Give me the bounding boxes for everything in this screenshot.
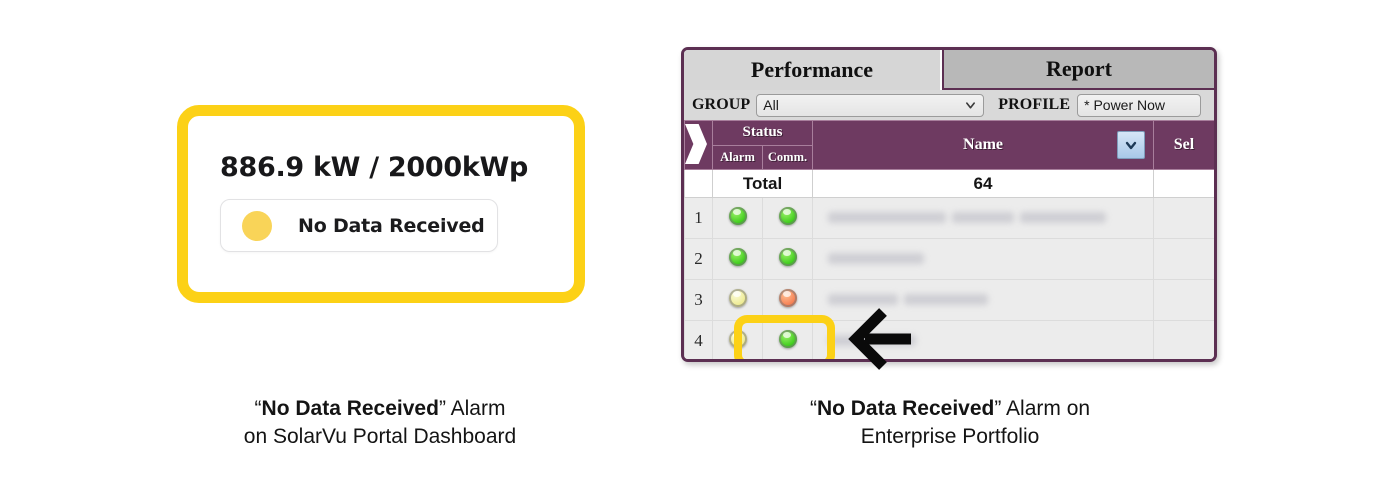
- status-group-header: Status: [713, 121, 813, 146]
- flag-icon: [685, 124, 707, 164]
- group-select[interactable]: All: [756, 94, 984, 117]
- alarm-status-dot-icon: [242, 211, 272, 241]
- total-row-select-cell: [1154, 170, 1215, 198]
- comm-column-header: Comm.: [763, 145, 813, 170]
- caption-right: “No Data Received” Alarm on Enterprise P…: [740, 395, 1160, 452]
- row-index: 3: [685, 280, 713, 321]
- group-select-value: All: [763, 97, 779, 113]
- alarm-column-header: Alarm: [713, 145, 763, 170]
- total-row: Total 64: [685, 170, 1215, 198]
- profile-select[interactable]: * Power Now: [1077, 94, 1201, 117]
- select-column-header: Sel: [1154, 121, 1215, 170]
- table-header: Status Name Sel Alarm Comm.: [685, 121, 1215, 170]
- group-filter-label: GROUP: [692, 96, 750, 114]
- comm-status-cell[interactable]: [763, 321, 813, 362]
- tab-bar: Performance Report: [684, 50, 1214, 90]
- tab-performance[interactable]: Performance: [684, 50, 942, 90]
- pointer-arrow-icon: [843, 306, 915, 372]
- row-index: 2: [685, 239, 713, 280]
- caption-right-line2: Enterprise Portfolio: [740, 423, 1160, 451]
- caption-right-quoted: No Data Received: [817, 397, 994, 420]
- alarm-led-icon: [729, 248, 747, 266]
- caption-right-suffix: Alarm on: [1001, 397, 1090, 420]
- table-row[interactable]: 3: [685, 280, 1215, 321]
- caption-left-line1: “No Data Received” Alarm: [180, 395, 580, 423]
- alarm-status-cell[interactable]: [713, 198, 763, 239]
- comm-status-cell[interactable]: [763, 198, 813, 239]
- chevron-down-icon: [1124, 138, 1138, 152]
- redacted-site-name: [828, 294, 898, 305]
- alarm-status-cell[interactable]: [713, 239, 763, 280]
- caption-right-line1: “No Data Received” Alarm on: [740, 395, 1160, 423]
- alarm-status-cell[interactable]: [713, 321, 763, 362]
- redacted-site-name: [828, 253, 924, 264]
- caption-left-suffix: Alarm: [446, 397, 506, 420]
- flag-column-header: [685, 121, 713, 170]
- select-cell[interactable]: [1154, 280, 1215, 321]
- profile-select-value: * Power Now: [1084, 97, 1165, 113]
- alarm-led-icon: [729, 330, 747, 348]
- alarm-led-icon: [729, 207, 747, 225]
- name-column-header[interactable]: Name: [813, 121, 1154, 170]
- comm-led-icon: [779, 289, 797, 307]
- site-name-cell[interactable]: [813, 239, 1154, 280]
- table-row[interactable]: 1: [685, 198, 1215, 239]
- name-sort-dropdown-button[interactable]: [1117, 131, 1145, 159]
- total-row-count: 64: [813, 170, 1154, 198]
- power-readout: 886.9 kW / 2000kWp: [220, 154, 574, 181]
- alarm-led-icon: [729, 289, 747, 307]
- comm-status-cell[interactable]: [763, 280, 813, 321]
- select-cell[interactable]: [1154, 239, 1215, 280]
- total-row-flag-cell: [685, 170, 713, 198]
- caption-left-line2: on SolarVu Portal Dashboard: [180, 423, 580, 451]
- profile-filter-label: PROFILE: [998, 96, 1070, 114]
- dashboard-card: 886.9 kW / 2000kWp No Data Received: [177, 105, 585, 303]
- alarm-status-cell[interactable]: [713, 280, 763, 321]
- alarm-status-label: No Data Received: [298, 215, 485, 237]
- redacted-site-name: [1020, 212, 1106, 223]
- table-body: Total 64 1234: [685, 170, 1215, 362]
- redacted-site-name: [828, 212, 946, 223]
- portfolio-table: Status Name Sel Alarm Comm. To: [684, 120, 1215, 362]
- comm-led-icon: [779, 248, 797, 266]
- select-cell[interactable]: [1154, 321, 1215, 362]
- table-row[interactable]: 2: [685, 239, 1215, 280]
- row-index: 4: [685, 321, 713, 362]
- select-cell[interactable]: [1154, 198, 1215, 239]
- caption-left-quoted: No Data Received: [262, 397, 439, 420]
- chevron-down-icon: [965, 100, 976, 111]
- row-index: 1: [685, 198, 713, 239]
- name-column-label: Name: [963, 136, 1003, 153]
- tab-report[interactable]: Report: [942, 50, 1214, 90]
- caption-left: “No Data Received” Alarm on SolarVu Port…: [180, 395, 580, 452]
- redacted-site-name: [952, 212, 1014, 223]
- site-name-cell[interactable]: [813, 198, 1154, 239]
- enterprise-portfolio-panel: Performance Report GROUP All PROFILE * P…: [681, 47, 1217, 362]
- dashboard-card-inner: 886.9 kW / 2000kWp No Data Received: [188, 116, 574, 292]
- redacted-site-name: [904, 294, 988, 305]
- comm-led-icon: [779, 207, 797, 225]
- alarm-status-pill[interactable]: No Data Received: [220, 199, 498, 252]
- filter-bar: GROUP All PROFILE * Power Now: [684, 90, 1214, 120]
- comm-led-icon: [779, 330, 797, 348]
- table-row[interactable]: 4: [685, 321, 1215, 362]
- total-row-label: Total: [713, 170, 813, 198]
- comm-status-cell[interactable]: [763, 239, 813, 280]
